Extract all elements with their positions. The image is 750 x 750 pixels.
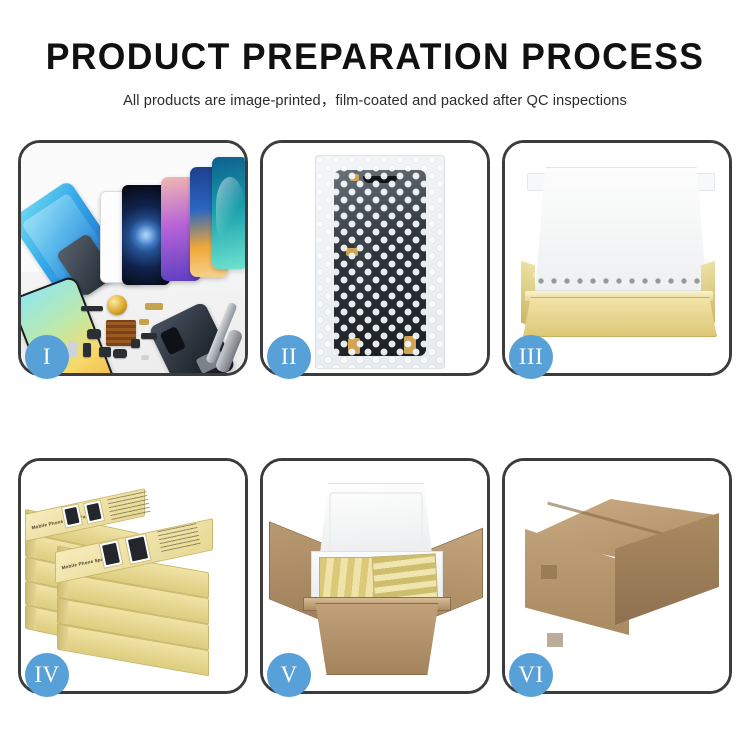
page-subtitle: All products are image-printed，film-coat… — [0, 89, 750, 110]
carton-tab-lower — [547, 633, 563, 647]
step-badge-5: V — [267, 653, 311, 697]
flex-cable-part — [83, 343, 91, 357]
step-badge-1: I — [25, 335, 69, 379]
antenna-part — [141, 333, 157, 339]
step-panel-4: Mobile Phone Spare Parts Mobile Phone Sp… — [18, 458, 248, 694]
gold-coil-part — [107, 295, 127, 315]
camera-module-part — [87, 329, 101, 339]
step-panel-6: VI Sealed outer carton ready for shipmen… — [502, 458, 732, 694]
bubble-wrap-bag — [315, 155, 445, 369]
step-badge-3: III — [509, 335, 553, 379]
screw-set-part — [141, 355, 149, 360]
taptic-part — [113, 349, 127, 358]
chip-part — [81, 306, 103, 311]
step-panel-3: III Bubble-wrapped items placed in yello… — [502, 140, 732, 376]
gold-connector-part — [145, 303, 163, 310]
yellow-box-front — [523, 297, 717, 337]
step-panel-5: V Boxes loaded into foam-lined shipping … — [260, 458, 490, 694]
bubble-highlights — [316, 156, 444, 368]
carton-front — [307, 603, 447, 675]
carton-tab-upper — [541, 565, 557, 579]
speaker-part — [99, 347, 111, 357]
step-badge-6: VI — [509, 653, 553, 697]
small-ic-part — [131, 339, 140, 348]
product-preparation-infographic: PRODUCT PREPARATION PROCESS All products… — [0, 0, 750, 750]
header: PRODUCT PREPARATION PROCESS All products… — [0, 0, 750, 110]
step-panel-2: II Screen assembly sealed in bubble wrap… — [260, 140, 490, 376]
sim-tray-part — [68, 341, 77, 357]
process-steps-grid: I Mobile phone screens, LCD assemblies a… — [18, 140, 732, 694]
page-title: PRODUCT PREPARATION PROCESS — [15, 38, 735, 77]
teal-gradient-phone — [212, 157, 245, 269]
step-badge-4: IV — [25, 653, 69, 697]
gold-clip-part — [139, 319, 149, 325]
step-badge-2: II — [267, 335, 311, 379]
step-panel-1: I Mobile phone screens, LCD assemblies a… — [18, 140, 248, 376]
